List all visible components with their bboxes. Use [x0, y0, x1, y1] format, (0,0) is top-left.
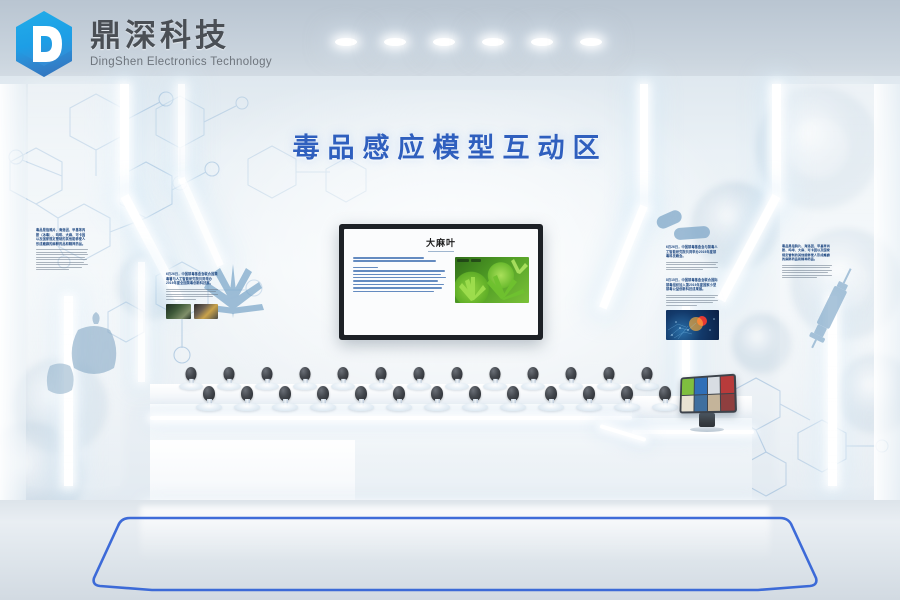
downlight	[580, 38, 602, 46]
led-strip-left-inner-lower	[138, 262, 145, 382]
slide-content: 大麻叶	[344, 229, 538, 335]
tablet-image-tile[interactable]	[707, 394, 720, 411]
tablet-image-tile[interactable]	[721, 393, 735, 410]
pedestal-disc	[538, 403, 564, 411]
downlight	[433, 38, 455, 46]
wall-info-body	[36, 249, 88, 270]
tablet-image-tile[interactable]	[681, 395, 693, 411]
brand-name-cn: 鼎深科技	[90, 20, 272, 53]
tablet-screen[interactable]	[679, 374, 737, 414]
downlight	[384, 38, 406, 46]
pedestal-disc	[386, 403, 412, 411]
tablet-image-tile[interactable]	[682, 378, 694, 394]
drug-sample-model[interactable]	[424, 386, 450, 410]
drug-sample-model[interactable]	[310, 386, 336, 410]
cannabis-photo	[455, 257, 529, 303]
wall-info-body	[666, 295, 718, 306]
brand-name-en: DingShen Electronics Technology	[90, 56, 272, 68]
tablet-image-tile[interactable]	[721, 376, 734, 393]
wall-thumbnail-image	[194, 304, 219, 319]
pedestal-disc	[614, 403, 640, 411]
pedestal-disc	[310, 403, 336, 411]
drug-sample-model[interactable]	[386, 386, 412, 410]
pedestal-disc	[196, 403, 222, 411]
downlight	[482, 38, 504, 46]
exhibition-scene: 毒品是指鸦片、海洛因、甲基苯丙胺（冰毒）、吗啡、大麻、可卡因以及国家规定管制的其…	[0, 0, 900, 600]
drug-sample-model[interactable]	[500, 386, 526, 410]
neural-network-image	[666, 310, 719, 340]
wall-info-left-mid: 6月26日，中国禁毒基金会联合国禁毒署与人工智能研究院共同举办2019年度全国禁…	[166, 272, 218, 319]
pedestal-disc	[348, 403, 374, 411]
wall-info-heading: 6月26日，中国禁毒基金会与禁毒人工智能研究院共同举办2019年度禁毒科技峰会。	[666, 245, 718, 259]
tablet-image-grid	[681, 376, 734, 412]
downlight	[335, 38, 357, 46]
wall-thumbnail-image	[166, 304, 191, 319]
pedestal-disc	[652, 403, 678, 411]
hexagon-logo-icon	[8, 8, 80, 80]
slide-divider	[428, 251, 454, 252]
wall-info-body	[782, 265, 832, 279]
pedestal-disc	[234, 403, 260, 411]
tablet-stand-base	[690, 427, 724, 432]
wall-info-body	[666, 262, 718, 271]
photo-caption-tags	[457, 259, 481, 262]
wall-info-heading: 6月26日，中国禁毒基金会联合国禁毒署与人工智能研究院共同举办2019年度全国禁…	[166, 272, 218, 286]
slide-title: 大麻叶	[353, 236, 529, 249]
page-title: 毒品感应模型互动区	[0, 126, 900, 165]
wall-info-heading: 8月15日，中国禁毒基金会联合国际禁毒组织加入第2019年度国家小型禁毒公益创新…	[666, 278, 718, 292]
drug-sample-model[interactable]	[196, 386, 222, 410]
drug-sample-model[interactable]	[348, 386, 374, 410]
display-screen[interactable]: 大麻叶	[339, 224, 543, 340]
wall-info-right-mid: 8月15日，中国禁毒基金会联合国际禁毒组织加入第2019年度国家小型禁毒公益创新…	[666, 278, 718, 340]
drug-sample-model[interactable]	[538, 386, 564, 410]
wall-info-heading: 毒品是指鸦片、海洛因、甲基苯丙胺（冰毒）、吗啡、大麻、可卡因以及国家规定管制的其…	[36, 228, 88, 246]
tablet-stand-neck	[699, 413, 715, 427]
wall-info-left-top: 毒品是指鸦片、海洛因、甲基苯丙胺（冰毒）、吗啡、大麻、可卡因以及国家规定管制的其…	[36, 228, 88, 272]
drug-sample-model[interactable]	[614, 386, 640, 410]
pedestal-disc	[462, 403, 488, 411]
drug-sample-model[interactable]	[462, 386, 488, 410]
pedestal-disc	[500, 403, 526, 411]
wall-info-body	[166, 289, 218, 300]
wall-info-heading: 毒品是指鸦片、海洛因、甲基苯丙胺、吗啡、大麻、可卡因以及国家规定管制的其他能够使…	[782, 244, 832, 262]
brand-logo: 鼎深科技 DingShen Electronics Technology	[8, 8, 272, 80]
floor-led-outline	[90, 512, 820, 594]
pedestal-disc	[272, 403, 298, 411]
drug-sample-model[interactable]	[576, 386, 602, 410]
pedestal-disc	[576, 403, 602, 411]
counter-glow-edge-upper	[150, 416, 632, 420]
tablet-image-tile[interactable]	[694, 378, 706, 394]
wall-info-right-top: 6月26日，中国禁毒基金会与禁毒人工智能研究院共同举办2019年度禁毒科技峰会。	[666, 245, 718, 272]
pedestal-disc	[424, 403, 450, 411]
downlight	[531, 38, 553, 46]
drug-sample-model[interactable]	[652, 386, 678, 410]
wall-info-right-bottom: 毒品是指鸦片、海洛因、甲基苯丙胺、吗啡、大麻、可卡因以及国家规定管制的其他能够使…	[782, 244, 832, 280]
drug-sample-model[interactable]	[234, 386, 260, 410]
tablet-image-tile[interactable]	[707, 377, 720, 394]
interactive-tablet-kiosk[interactable]	[678, 375, 736, 432]
slide-text-column	[353, 257, 449, 303]
tablet-image-tile[interactable]	[694, 395, 706, 412]
drug-sample-model[interactable]	[272, 386, 298, 410]
